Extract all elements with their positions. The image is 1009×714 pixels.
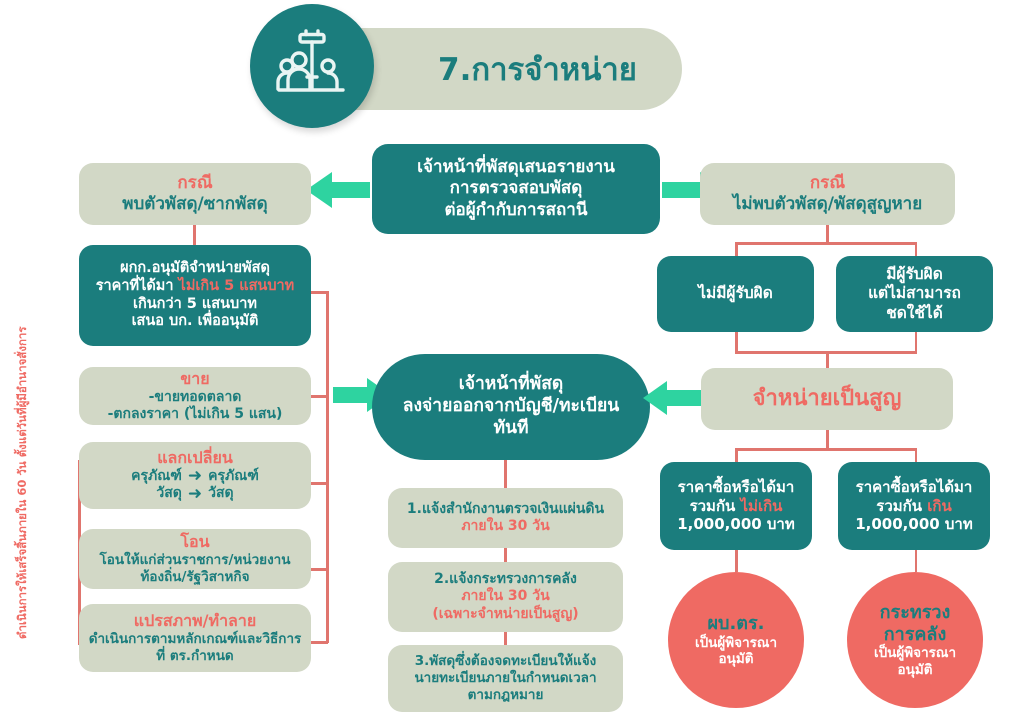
authority-circle-commissioner: ผบ.ตร. เป็นผู้พิจารณา อนุมัติ: [668, 572, 804, 708]
connector-liability-2-down: [915, 332, 918, 351]
step-3-line-3: ตามกฎหมาย: [468, 687, 544, 704]
arrow-writeoff-to-center-icon: [643, 381, 701, 415]
connector-liability-2-up: [915, 242, 918, 257]
arrow-right-icon: ➜: [188, 468, 202, 485]
price-2-line-1: ราคาซื้อหรือได้มา: [856, 478, 973, 497]
connector-stub-approve: [311, 291, 328, 294]
price-1-line-2: รวมกัน ไม่เกิน: [690, 497, 783, 516]
exchange-row-2-from: วัสดุ: [156, 485, 182, 502]
connector-stub-method-0: [311, 395, 328, 398]
left-case-box: กรณี พบตัวพัสดุ/ซากพัสดุ: [79, 163, 311, 225]
method-box-sell: ขาย -ขายทอดตลาด -ตกลงราคา (ไม่เกิน 5 แสน…: [79, 367, 311, 425]
approve-line-2: ราคาที่ได้มา ไม่เกิน 5 แสนบาท: [96, 278, 295, 296]
connector-stub-method-3: [311, 641, 328, 644]
authority-2-line-1: เป็นผู้พิจารณา: [874, 645, 956, 661]
connector-right-case-horizontal: [735, 242, 917, 245]
write-off-box: จำหน่ายเป็นสูญ: [701, 368, 953, 430]
price-box-over-limit: ราคาซื้อหรือได้มา รวมกัน เกิน 1,000,000 …: [838, 462, 990, 550]
center-main-line-2: ลงจ่ายออกจากบัญชี/ทะเบียน: [403, 396, 619, 418]
center-step-box-2: 2.แจ้งกระทรวงการคลัง ภายใน 30 วัน (เฉพาะ…: [388, 562, 623, 632]
method-box-exchange: แลกเปลี่ยน ครุภัณฑ์ ➜ ครุภัณฑ์ วัสดุ ➜ ว…: [79, 442, 311, 509]
connector-price-1-to-authority: [735, 550, 738, 572]
left-case-title: กรณี: [177, 173, 212, 194]
diagram-canvas: 7.การจำหน่าย เจ้าหน้าที่พัสดุเสนอรายงาน …: [0, 0, 1009, 714]
method-exchange-row-2: วัสดุ ➜ วัสดุ: [156, 485, 233, 502]
right-case-box: กรณี ไม่พบตัวพัสดุ/พัสดุสูญหาย: [700, 163, 955, 225]
liability-2-line-2: แต่ไม่สามารถ: [868, 284, 961, 303]
method-dispose-title: แปรสภาพ/ทำลาย: [134, 611, 256, 631]
price-2-line-2-prefix: รวมกัน: [876, 497, 927, 515]
connector-left-case-to-approve: [193, 225, 196, 245]
method-exchange-title: แลกเปลี่ยน: [157, 448, 233, 468]
step-1-line-2: ภายใน 30 วัน: [461, 518, 549, 535]
price-1-line-1: ราคาซื้อหรือได้มา: [678, 478, 795, 497]
center-top-box: เจ้าหน้าที่พัสดุเสนอรายงาน การตรวจสอบพัส…: [372, 144, 660, 234]
center-top-line-3: ต่อผู้กำกับการสถานี: [445, 200, 588, 221]
step-2-line-2: ภายใน 30 วัน: [461, 588, 549, 605]
center-step-box-3: 3.พัสดุซึ่งต้องจดทะเบียนให้แจ้ง นายทะเบี…: [388, 645, 623, 712]
procurement-officer-icon: [273, 27, 351, 105]
method-transfer-line-2: ท้องถิ่น/รัฐวิสาหกิจ: [140, 569, 249, 586]
deadline-note: ดำเนินการให้เสร็จสิ้นภายใน 60 วัน ตั้งแต…: [14, 409, 32, 639]
authority-2-title-2: การคลัง: [884, 624, 947, 646]
approve-line-4: เสนอ บก. เพื่ออนุมัติ: [132, 313, 259, 331]
exchange-row-1-from: ครุภัณฑ์: [131, 468, 182, 485]
price-2-line-2: รวมกัน เกิน: [876, 497, 951, 516]
price-1-line-2-highlight: ไม่เกิน: [741, 497, 783, 515]
price-1-line-3: 1,000,000 บาท: [677, 515, 795, 534]
approve-line-2-prefix: ราคาที่ได้มา: [96, 278, 179, 294]
arrow-left-to-found-case-icon: [306, 172, 370, 208]
approve-box: ผกก.อนุมัติจำหน่ายพัสดุ ราคาที่ได้มา ไม่…: [79, 245, 311, 346]
liability-box-no-responsible: ไม่มีผู้รับผิด: [657, 256, 814, 332]
method-sell-line-2: -ตกลงราคา (ไม่เกิน 5 แสน): [108, 406, 283, 423]
step-2-line-1: 2.แจ้งกระทรวงการคลัง: [434, 571, 577, 588]
connector-liability-1-down: [735, 332, 738, 351]
approve-line-3: เกินกว่า 5 แสนบาท: [133, 296, 257, 314]
write-off-label: จำหน่ายเป็นสูญ: [753, 385, 902, 412]
connector-stub-method-1: [311, 482, 328, 485]
step-2-line-3: (เฉพาะจำหน่ายเป็นสูญ): [432, 606, 578, 623]
connector-writeoff-split: [735, 448, 917, 451]
arrow-right-icon: ➜: [188, 486, 202, 503]
center-main-line-3: ทันที: [493, 418, 528, 440]
method-dispose-line-1: ดำเนินการตามหลักเกณฑ์และวิธีการ: [89, 631, 302, 648]
method-box-dispose: แปรสภาพ/ทำลาย ดำเนินการตามหลักเกณฑ์และวิ…: [79, 604, 311, 672]
connector-price-2-up: [915, 448, 918, 463]
price-2-line-3: 1,000,000 บาท: [855, 515, 973, 534]
page-title: 7.การจำหน่าย: [395, 45, 680, 93]
method-box-transfer: โอน โอนให้แก่ส่วนราชการ/หน่วยงาน ท้องถิ่…: [79, 529, 311, 589]
authority-1-line-2: อนุมัติ: [718, 651, 753, 667]
authority-circle-ministry: กระทรวง การคลัง เป็นผู้พิจารณา อนุมัติ: [847, 572, 983, 708]
center-top-line-2: การตรวจสอบพัสดุ: [450, 178, 583, 199]
connector-step-2-to-3: [504, 632, 507, 645]
liability-1-line-1: ไม่มีผู้รับผิด: [698, 284, 773, 303]
method-sell-title: ขาย: [180, 369, 209, 389]
center-main-line-1: เจ้าหน้าที่พัสดุ: [459, 374, 564, 396]
connector-writeoff-down: [826, 430, 829, 448]
step-1-line-1: 1.แจ้งสำนักงานตรวจเงินแผ่นดิน: [407, 501, 604, 518]
price-2-line-2-highlight: เกิน: [927, 497, 951, 515]
center-step-box-1: 1.แจ้งสำนักงานตรวจเงินแผ่นดิน ภายใน 30 ว…: [388, 488, 623, 548]
method-transfer-line-1: โอนให้แก่ส่วนราชการ/หน่วยงาน: [100, 552, 291, 569]
connector-price-1-up: [735, 448, 738, 463]
liability-2-line-3: ชดใช้ได้: [886, 304, 943, 323]
authority-2-title: กระทรวง: [880, 602, 951, 624]
center-main-box: เจ้าหน้าที่พัสดุ ลงจ่ายออกจากบัญชี/ทะเบี…: [372, 354, 650, 460]
right-case-subtitle: ไม่พบตัวพัสดุ/พัสดุสูญหาย: [733, 194, 922, 215]
left-column-spine: [326, 291, 329, 643]
connector-liability-1-up: [735, 242, 738, 257]
price-1-line-2-prefix: รวมกัน: [690, 497, 741, 515]
method-dispose-line-2: ที่ ตร.กำหนด: [156, 648, 233, 665]
exchange-row-1-to: ครุภัณฑ์: [208, 468, 259, 485]
authority-1-title: ผบ.ตร.: [707, 613, 764, 635]
right-case-title: กรณี: [810, 173, 845, 194]
method-transfer-title: โอน: [180, 532, 209, 552]
authority-2-line-2: อนุมัติ: [897, 662, 932, 678]
connector-price-2-to-authority: [915, 550, 918, 572]
authority-1-line-1: เป็นผู้พิจารณา: [695, 635, 777, 651]
exchange-row-2-to: วัสดุ: [208, 485, 234, 502]
connector-right-case-down: [826, 225, 829, 242]
price-box-under-limit: ราคาซื้อหรือได้มา รวมกัน ไม่เกิน 1,000,0…: [660, 462, 812, 550]
connector-center-main-to-step-1: [504, 460, 507, 488]
header-icon-badge: [250, 4, 374, 128]
liability-box-cannot-compensate: มีผู้รับผิด แต่ไม่สามารถ ชดใช้ได้: [836, 256, 993, 332]
connector-join-to-writeoff: [826, 351, 829, 368]
connector-step-1-to-2: [504, 548, 507, 562]
step-3-line-2: นายทะเบียนภายในกำหนดเวลา: [414, 670, 596, 687]
liability-2-line-1: มีผู้รับผิด: [886, 265, 943, 284]
approve-line-2-highlight: ไม่เกิน 5 แสนบาท: [179, 278, 295, 294]
step-3-line-1: 3.พัสดุซึ่งต้องจดทะเบียนให้แจ้ง: [415, 653, 597, 670]
connector-stub-method-2: [311, 568, 328, 571]
approve-line-1: ผกก.อนุมัติจำหน่ายพัสดุ: [120, 260, 270, 278]
method-exchange-row-1: ครุภัณฑ์ ➜ ครุภัณฑ์: [131, 468, 259, 485]
center-top-line-1: เจ้าหน้าที่พัสดุเสนอรายงาน: [417, 157, 615, 178]
method-sell-line-1: -ขายทอดตลาด: [149, 389, 242, 406]
left-case-subtitle: พบตัวพัสดุ/ซากพัสดุ: [122, 194, 267, 215]
